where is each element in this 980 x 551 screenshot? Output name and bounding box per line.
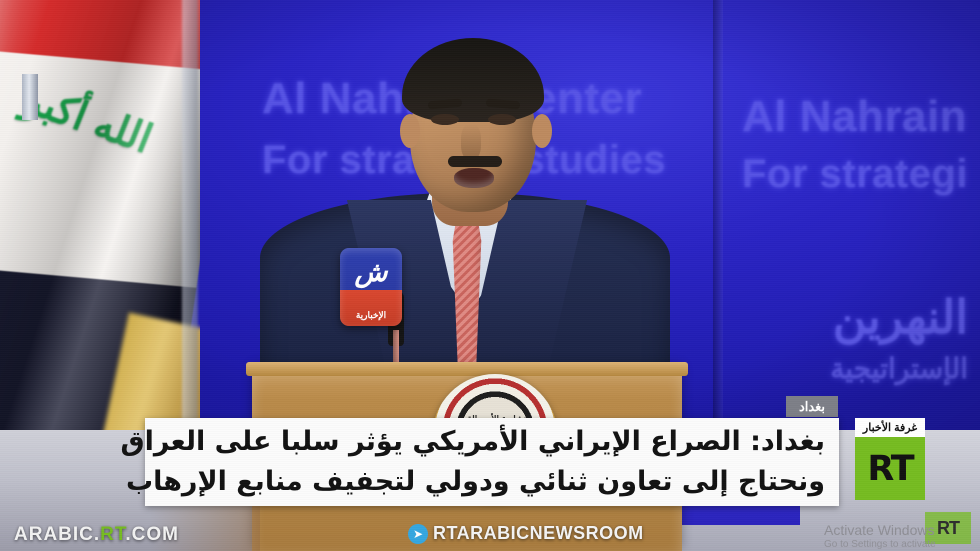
channel-microphone: ﺵ الإخبارية <box>340 248 402 326</box>
rt-logo-block: غرفة الأخبار RT <box>855 418 925 500</box>
broadcast-screenshot: Al Nahrain Center For strategic studies … <box>0 0 980 551</box>
microphone-channel-label: الإخبارية <box>340 310 402 321</box>
site-watermark: ARABIC.RT.COM <box>14 524 179 546</box>
podium-top-edge <box>246 362 688 376</box>
windows-activation-watermark: Activate Windows Go to Settings to activ… <box>824 522 980 551</box>
microphone-channel-logo-icon: ﺵ <box>355 259 388 286</box>
telegram-icon: ➤ <box>408 524 428 544</box>
rt-logo: RT <box>855 437 925 500</box>
speaker-ear-right <box>532 114 552 148</box>
microphone-stem <box>22 74 38 120</box>
iraqi-flag: الله أكبر <box>0 0 200 430</box>
site-watermark-suffix: .COM <box>125 524 179 545</box>
telegram-handle: RTARABICNEWSROOM <box>433 523 644 544</box>
newsroom-label: غرفة الأخبار <box>855 418 925 437</box>
microphone-flag-cube: ﺵ الإخبارية <box>340 248 402 326</box>
lower-third-headline: بغداد: الصراع الإيراني الأمريكي يؤثر سلب… <box>145 418 839 506</box>
telegram-watermark: ➤ RTARABICNEWSROOM <box>408 523 644 544</box>
speaker-moustache <box>448 156 502 167</box>
speaker-hair <box>402 38 544 122</box>
site-watermark-accent: RT <box>100 524 125 545</box>
speaker-ear-left <box>400 114 420 148</box>
headline-line-2: ونحتاج إلى تعاون ثنائي ودولي لتجفيف مناب… <box>159 462 825 502</box>
speaker-nose <box>461 124 481 160</box>
site-watermark-prefix: ARABIC. <box>14 524 100 545</box>
flag-pole <box>182 0 198 420</box>
windows-activation-title: Activate Windows <box>824 522 980 538</box>
rt-logo-text: RT <box>867 449 912 489</box>
headline-line-1: بغداد: الصراع الإيراني الأمريكي يؤثر سلب… <box>159 422 825 462</box>
windows-activation-subtitle: Go to Settings to activate Windows. <box>824 538 980 551</box>
speaker-eye-right <box>488 114 516 125</box>
speaker-eye-left <box>431 114 459 125</box>
speaker-mouth <box>454 168 494 188</box>
location-tag: بغداد <box>786 396 838 417</box>
